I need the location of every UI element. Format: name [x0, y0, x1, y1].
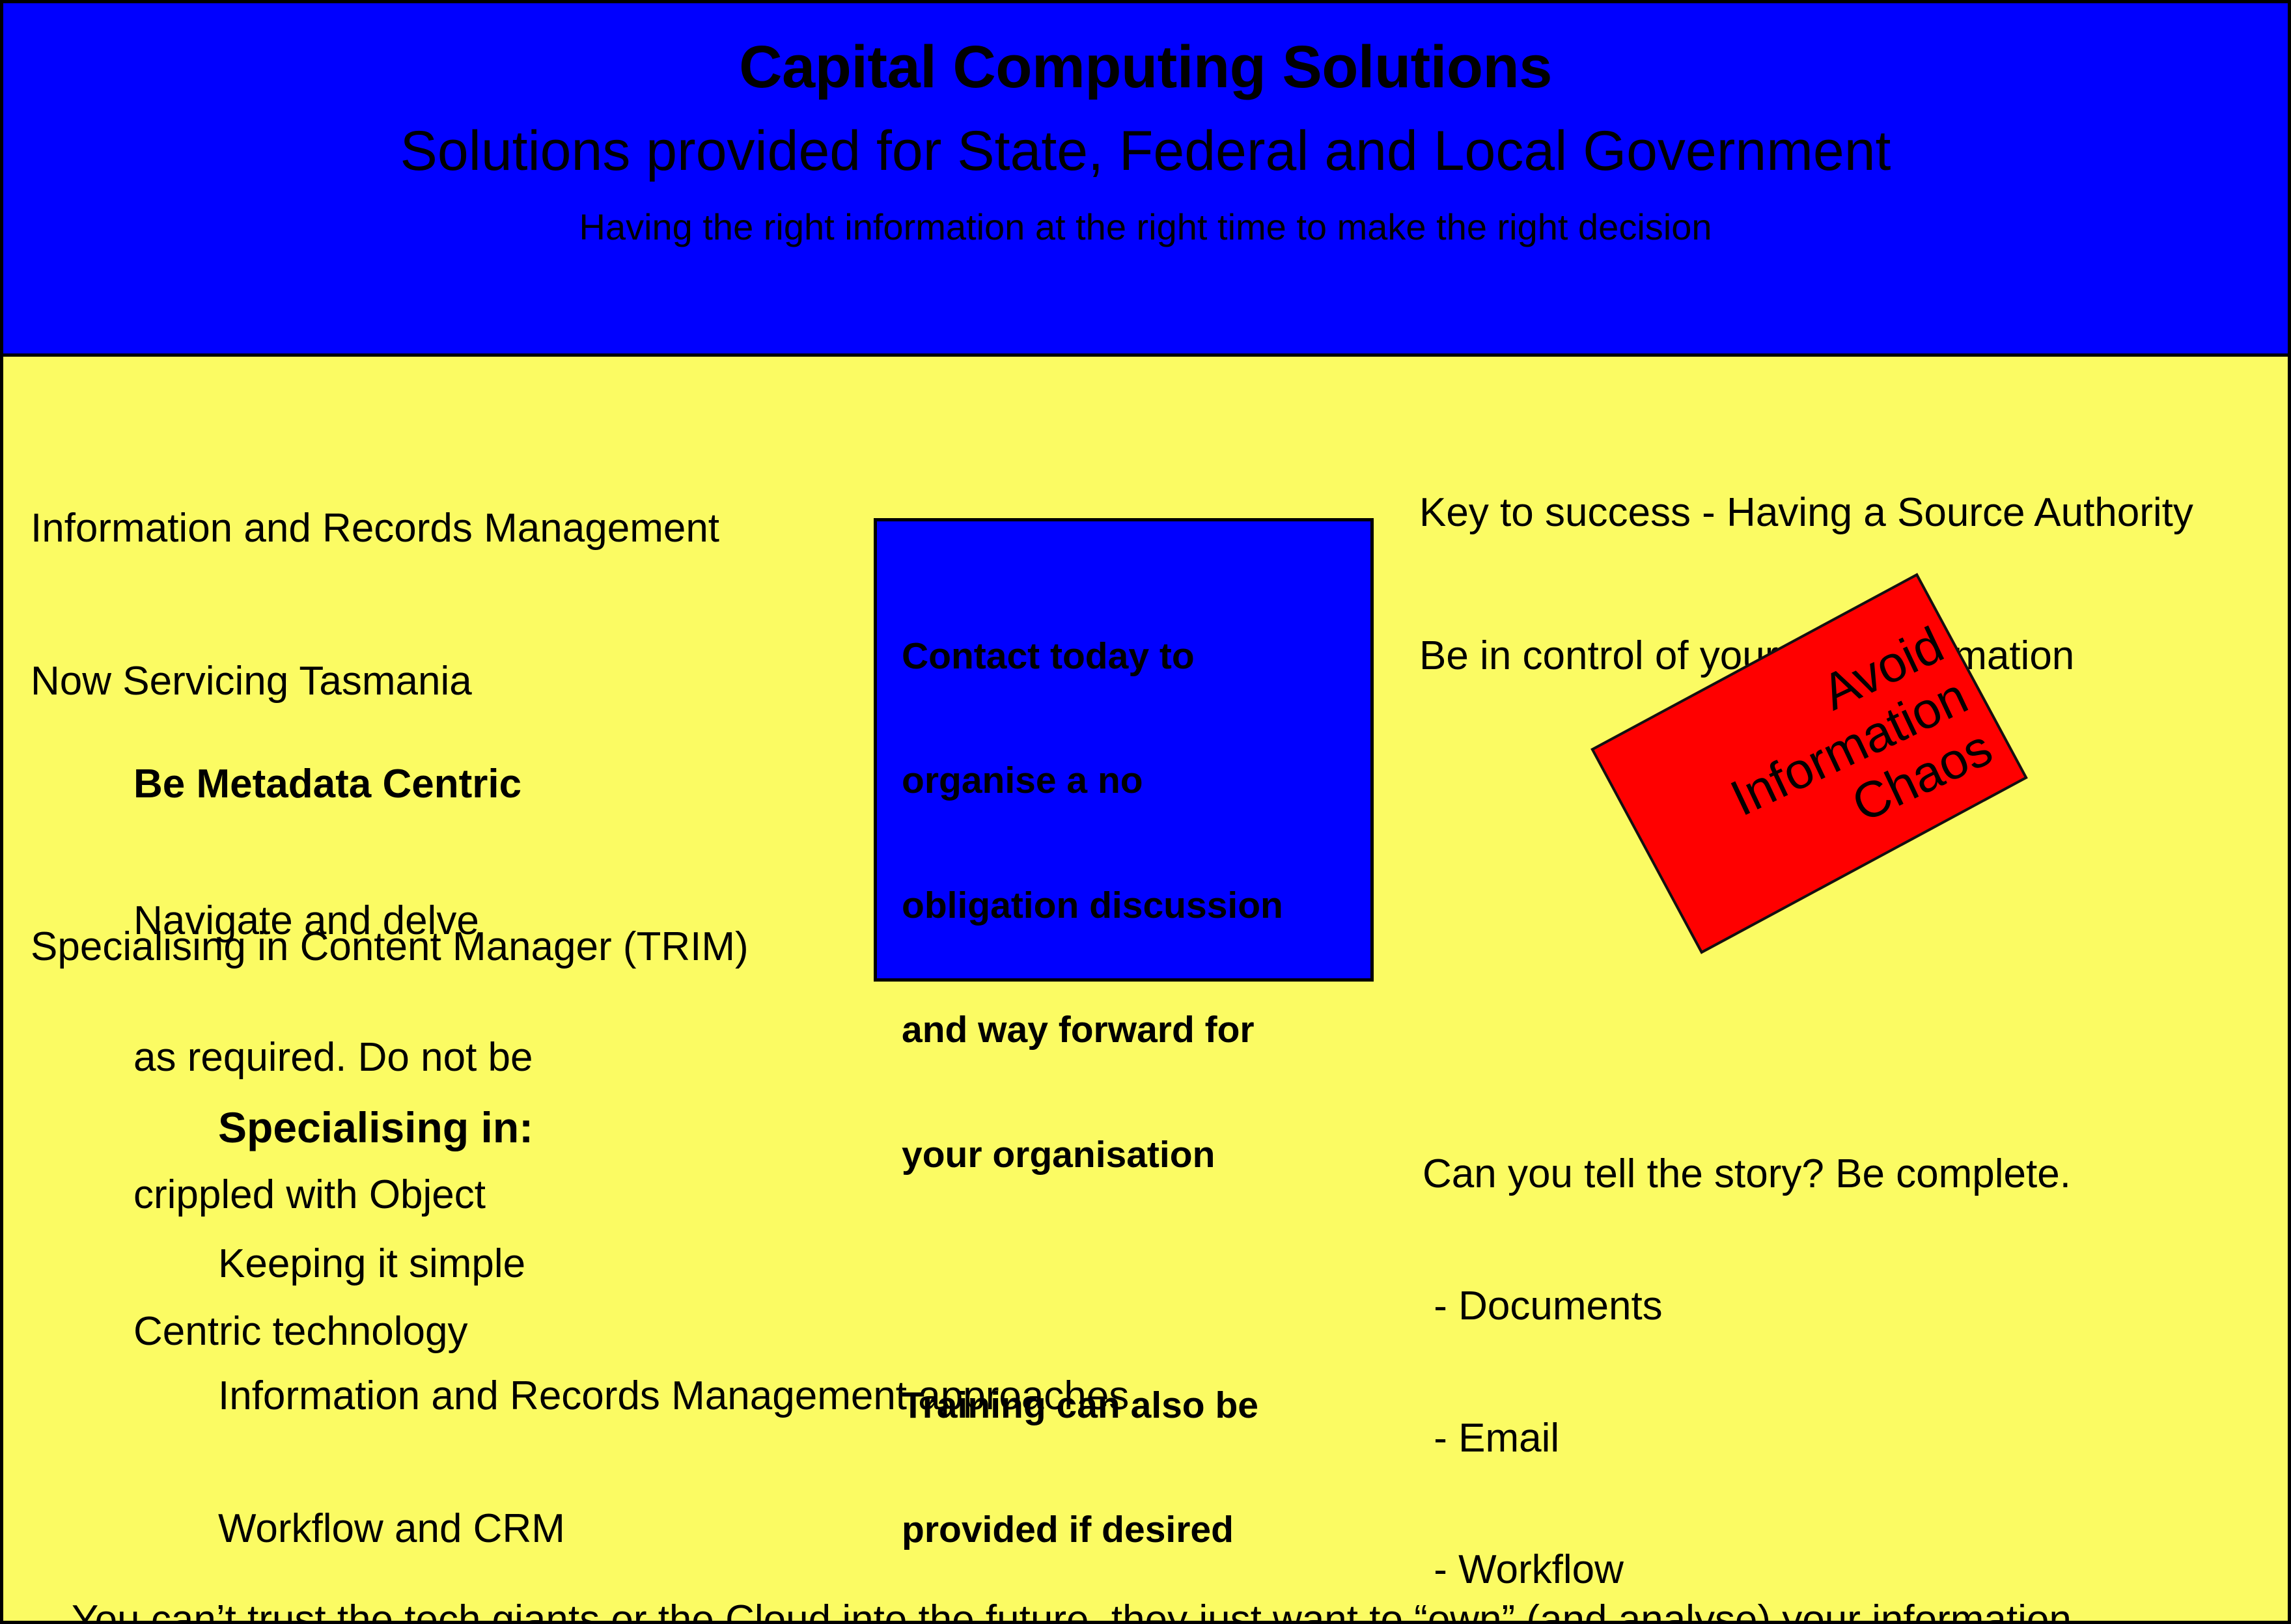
key-line-1: Key to success - Having a Source Authori… — [1419, 489, 2193, 536]
contact-p1-line-3: obligation discussion — [902, 885, 1370, 927]
contact-p1-line-1: Contact today to — [902, 636, 1370, 678]
metadata-line-1: Navigate and delve — [133, 898, 533, 944]
list-item: - Email — [1423, 1416, 2071, 1461]
footer-paragraph: You can’t trust the tech giants or the C… — [72, 1506, 2083, 1624]
header-banner: Capital Computing Solutions Solutions pr… — [0, 0, 2291, 357]
header-tagline: Having the right information at the righ… — [579, 209, 1712, 245]
specialising-heading: Specialising in: — [218, 1104, 1129, 1151]
story-heading: Can you tell the story? Be complete. — [1423, 1152, 2071, 1196]
metadata-heading: Be Metadata Centric — [133, 762, 533, 807]
list-item: Keeping it simple — [218, 1242, 1129, 1286]
intro-line-1: Information and Records Management — [31, 503, 749, 554]
page-title: Capital Computing Solutions — [739, 37, 1552, 97]
list-item: - Documents — [1423, 1284, 2071, 1328]
list-item: Information and Records Management appro… — [218, 1374, 1129, 1418]
footer-line-1: You can’t trust the tech giants or the C… — [72, 1597, 2083, 1624]
contact-callout-box[interactable]: Contact today to organise a no obligatio… — [874, 518, 1374, 982]
header-subtitle: Solutions provided for State, Federal an… — [400, 123, 1891, 179]
contact-p1-line-2: organise a no — [902, 760, 1370, 802]
poster-canvas: Capital Computing Solutions Solutions pr… — [0, 0, 2291, 1624]
